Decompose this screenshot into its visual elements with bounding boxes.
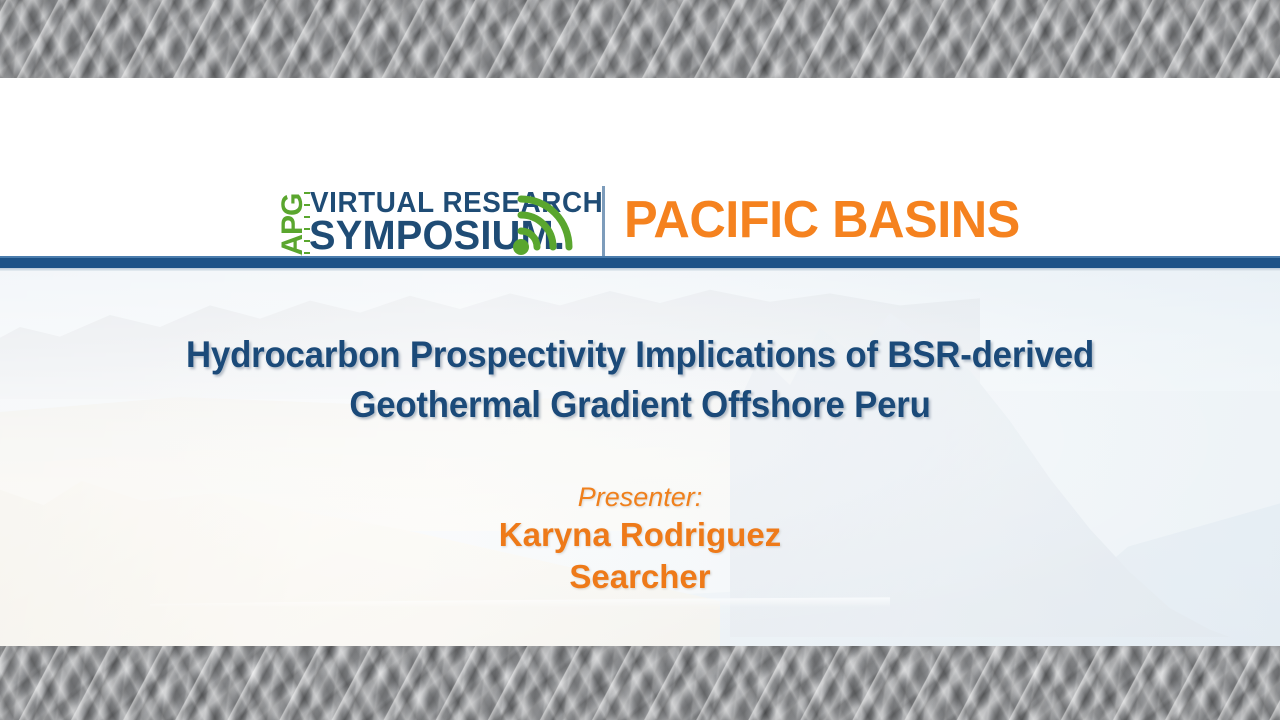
- presenter-name: Karyna Rodriguez: [0, 514, 1280, 556]
- slide-title: Hydrocarbon Prospectivity Implications o…: [0, 330, 1280, 430]
- top-texture-band: [0, 0, 1280, 78]
- slide-title-line-1: Hydrocarbon Prospectivity Implications o…: [38, 330, 1241, 380]
- event-title: PACIFIC BASINS: [624, 194, 1020, 246]
- top-texture-shading: [0, 0, 1280, 78]
- bottom-texture-band: [0, 646, 1280, 720]
- presenter-label: Presenter:: [0, 480, 1280, 514]
- accent-rule-highlight: [0, 256, 1280, 258]
- header-band: AAPG VIRTUAL RESEARCH SYMPOSIUM. Latin A…: [0, 78, 1280, 256]
- presentation-slide: AAPG VIRTUAL RESEARCH SYMPOSIUM. Latin A…: [0, 0, 1280, 720]
- presenter-block: Presenter: Karyna Rodriguez Searcher: [0, 480, 1280, 598]
- presenter-company: Searcher: [0, 556, 1280, 598]
- bottom-texture-shading: [0, 646, 1280, 720]
- wifi-signal-icon: [512, 194, 576, 256]
- slide-title-line-2: Geothermal Gradient Offshore Peru: [38, 380, 1241, 430]
